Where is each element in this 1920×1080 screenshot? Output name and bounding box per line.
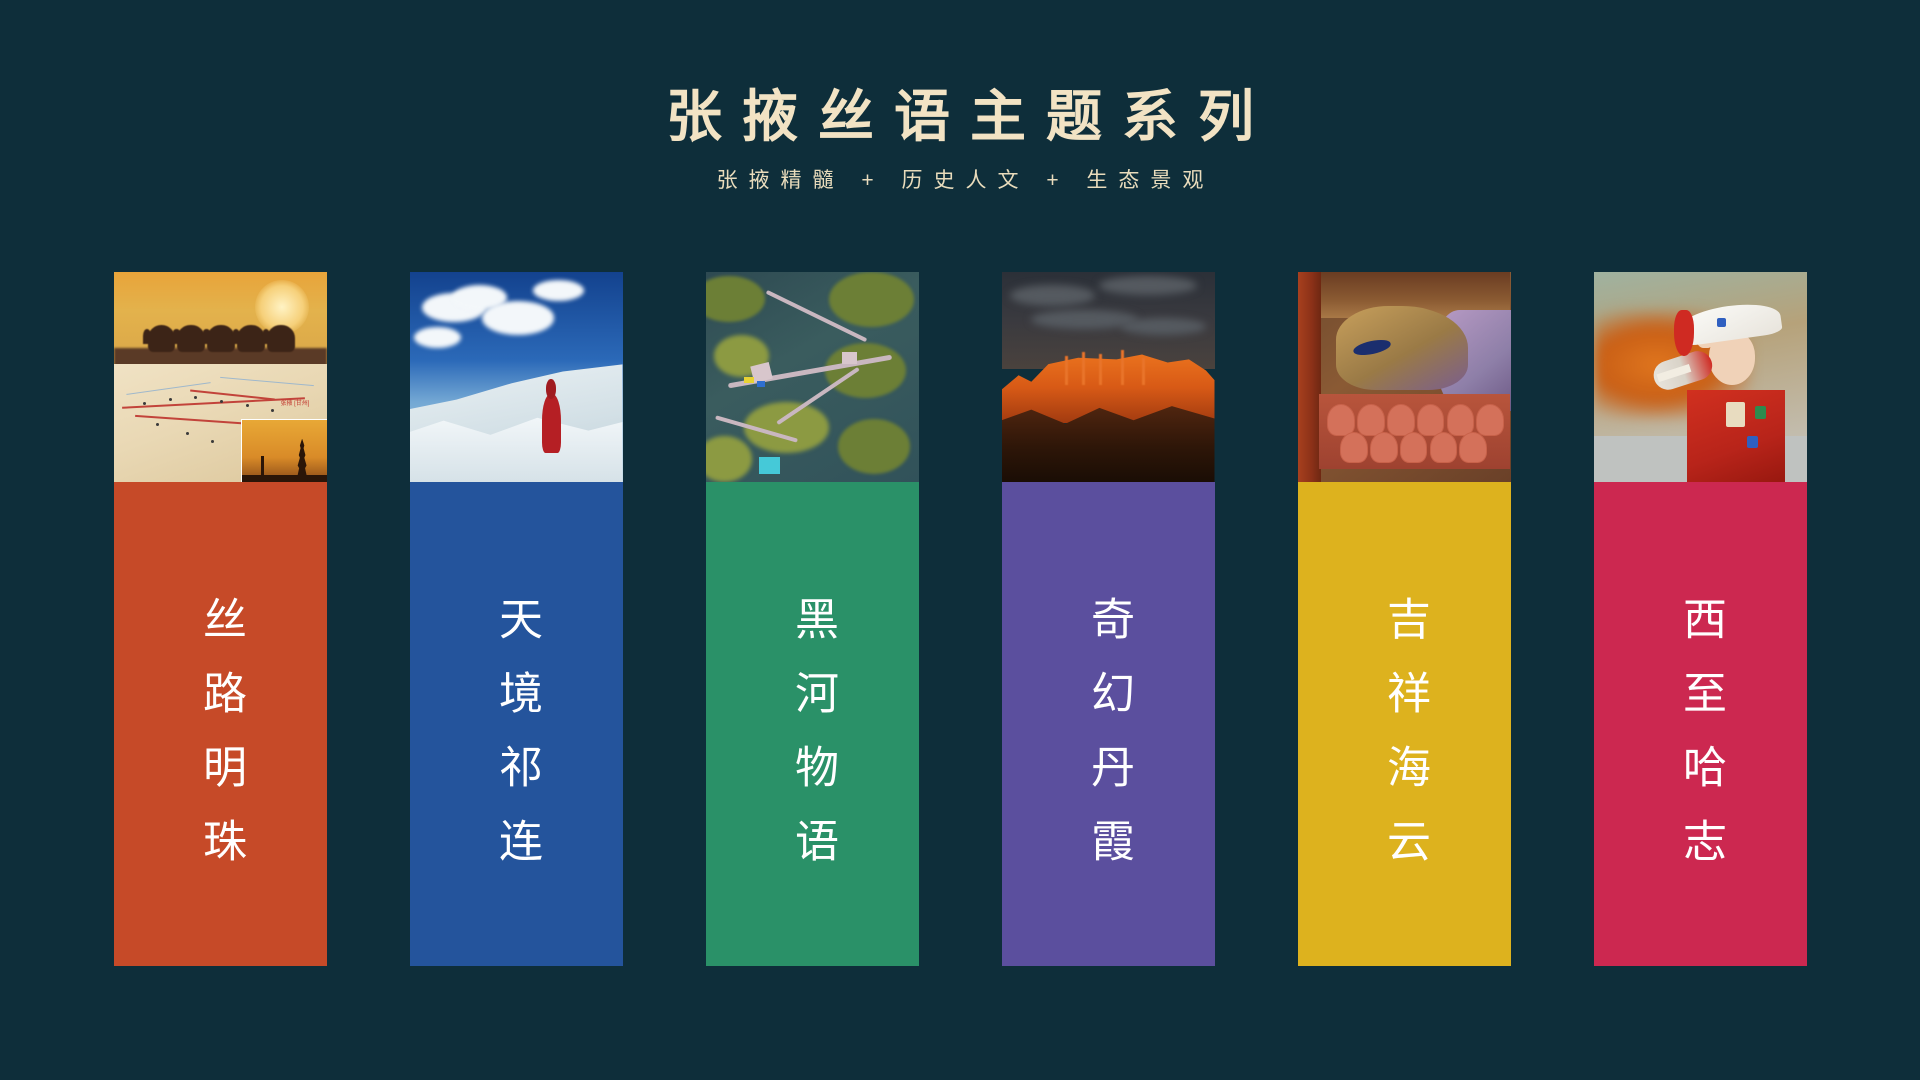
theme-card-label: 奇幻丹霞	[1086, 556, 1130, 892]
theme-card-panel: 奇幻丹霞	[1002, 482, 1215, 966]
theme-card[interactable]: 西至哈志	[1594, 272, 1807, 966]
theme-card-panel: 黑河物语	[706, 482, 919, 966]
theme-card[interactable]: 吉祥海云	[1298, 272, 1511, 966]
theme-card-panel: 西至哈志	[1594, 482, 1807, 966]
theme-card-label: 丝路明珠	[198, 556, 242, 892]
theme-card-panel: 丝路明珠	[114, 482, 327, 966]
theme-card[interactable]: 张掖 [甘州] 丝路明珠	[114, 272, 327, 966]
theme-card-row: 张掖 [甘州] 丝路明珠	[0, 272, 1920, 966]
qilian-glacier-photo	[410, 272, 623, 482]
page-title: 张掖丝语主题系列	[0, 86, 1920, 148]
theme-card[interactable]: 黑河物语	[706, 272, 919, 966]
silk-road-map-camel-caravan-photo: 张掖 [甘州]	[114, 272, 327, 482]
giant-reclining-buddha-temple-photo	[1298, 272, 1511, 482]
theme-card-label: 天境祁连	[494, 556, 538, 892]
theme-card-label: 西至哈志	[1678, 556, 1722, 892]
yugur-ethnic-costume-photo	[1594, 272, 1807, 482]
theme-card-panel: 吉祥海云	[1298, 482, 1511, 966]
map-city-label: 张掖 [甘州]	[280, 398, 309, 407]
theme-card[interactable]: 奇幻丹霞	[1002, 272, 1215, 966]
page-subtitle: 张掖精髓 + 历史人文 + 生态景观	[0, 164, 1920, 194]
poster-header: 张掖丝语主题系列 张掖精髓 + 历史人文 + 生态景观	[0, 0, 1920, 194]
theme-card-label: 黑河物语	[790, 556, 834, 892]
danxia-landform-sunset-photo	[1002, 272, 1215, 482]
poster-root: 张掖丝语主题系列 张掖精髓 + 历史人文 + 生态景观	[0, 0, 1920, 1080]
theme-card-panel: 天境祁连	[410, 482, 623, 966]
theme-card[interactable]: 天境祁连	[410, 272, 623, 966]
heihe-wetland-aerial-photo	[706, 272, 919, 482]
theme-card-label: 吉祥海云	[1382, 556, 1426, 892]
